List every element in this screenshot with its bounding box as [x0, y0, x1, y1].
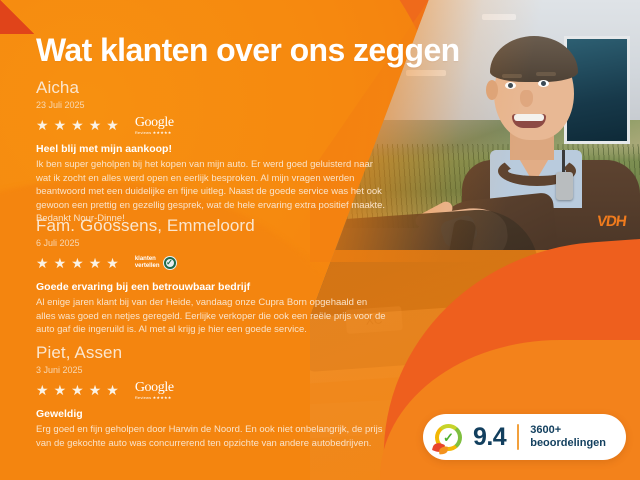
klantenvertellen-wordmark: klanten vertellen	[135, 256, 160, 270]
review-date: 6 Juli 2025	[36, 237, 414, 250]
google-wordmark: Google	[135, 381, 174, 395]
review-date: 3 Juni 2025	[36, 364, 414, 377]
check-glyph: ✓	[166, 259, 173, 267]
review-body: Erg goed en fijn geholpen door Harwin de…	[36, 423, 388, 450]
star-icon: ★	[89, 383, 104, 397]
google-reviews-subtext: Reviews ★★★★★	[135, 131, 174, 135]
review-author: Piet, Assen	[36, 343, 414, 363]
review-author: Aicha	[36, 78, 414, 98]
rating-badge[interactable]: ✓ 9.4 3600+ beoordelingen	[423, 414, 626, 460]
star-icon: ★	[36, 256, 51, 270]
review-title: Goede ervaring bij een betrouwbaar bedri…	[36, 280, 414, 294]
review-author: Fam. Goossens, Emmeloord	[36, 216, 414, 236]
review-date: 23 Juli 2025	[36, 99, 414, 112]
star-icon: ★	[106, 256, 121, 270]
star-icon: ★	[71, 383, 86, 397]
rating-score: 9.4	[473, 425, 506, 450]
review-meta: ★ ★ ★ ★ ★ klanten vertellen ✓	[36, 254, 414, 272]
star-rating: ★ ★ ★ ★ ★	[36, 383, 121, 397]
klantenvertellen-line1: klanten	[135, 256, 160, 263]
badge-divider	[517, 424, 519, 450]
star-icon: ★	[71, 118, 86, 132]
star-icon: ★	[36, 383, 51, 397]
banner-content: Wat klanten over ons zeggen Aicha 23 Jul…	[0, 0, 640, 480]
review-card: Aicha 23 Juli 2025 ★ ★ ★ ★ ★ Google Revi…	[36, 78, 414, 226]
klantenvertellen-line2: vertellen	[135, 263, 160, 270]
review-meta: ★ ★ ★ ★ ★ Google Reviews ★★★★★	[36, 116, 414, 134]
page-title: Wat klanten over ons zeggen	[36, 32, 460, 69]
star-icon: ★	[89, 118, 104, 132]
review-title: Geweldig	[36, 407, 414, 421]
star-rating: ★ ★ ★ ★ ★	[36, 118, 121, 132]
google-reviews-logo: Google Reviews ★★★★★	[135, 116, 174, 135]
google-wordmark: Google	[135, 116, 174, 130]
review-meta: ★ ★ ★ ★ ★ Google Reviews ★★★★★	[36, 381, 414, 399]
google-reviews-subtext: Reviews ★★★★★	[135, 396, 174, 400]
star-icon: ★	[54, 118, 69, 132]
star-icon: ★	[89, 256, 104, 270]
checkmark-seal-icon: ✓	[163, 256, 177, 270]
star-icon: ★	[71, 256, 86, 270]
star-icon: ★	[36, 118, 51, 132]
rating-count-label: beoordelingen	[530, 437, 606, 450]
star-icon: ★	[54, 383, 69, 397]
review-title: Heel blij met mijn aankoop!	[36, 142, 414, 156]
rating-count-block: 3600+ beoordelingen	[530, 424, 606, 450]
star-icon: ★	[54, 256, 69, 270]
star-icon: ★	[106, 383, 121, 397]
review-body: Al enige jaren klant bij van der Heide, …	[36, 296, 388, 337]
seal-leaf-orange	[439, 446, 449, 454]
checkmark-seal-icon: ✓	[435, 424, 462, 451]
check-glyph: ✓	[443, 431, 454, 444]
star-rating: ★ ★ ★ ★ ★	[36, 256, 121, 270]
rating-count: 3600+	[530, 424, 606, 437]
review-card: Piet, Assen 3 Juni 2025 ★ ★ ★ ★ ★ Google…	[36, 343, 414, 450]
star-icon: ★	[106, 118, 121, 132]
klantenvertellen-logo: klanten vertellen ✓	[135, 256, 177, 270]
review-card: Fam. Goossens, Emmeloord 6 Juli 2025 ★ ★…	[36, 216, 414, 337]
google-reviews-logo: Google Reviews ★★★★★	[135, 381, 174, 400]
